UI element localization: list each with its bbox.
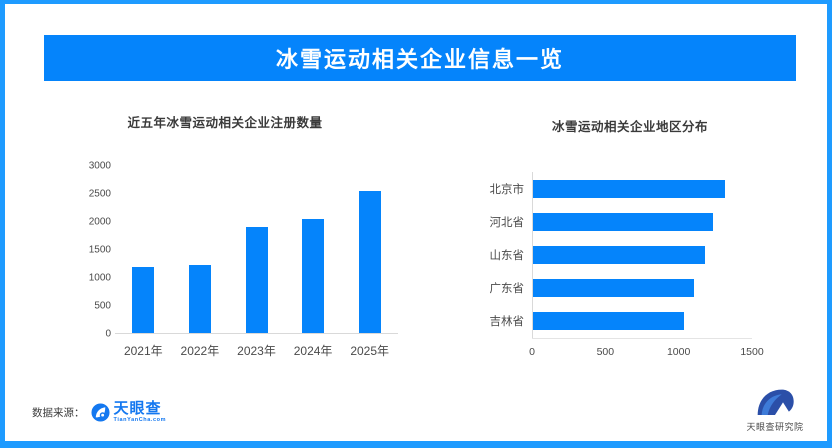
- x-axis-category-label: 2024年: [281, 342, 345, 359]
- data-source: 数据来源： 天眼查 TianYanCha.com: [32, 401, 166, 424]
- y-axis-category-label: 广东省: [462, 280, 524, 296]
- x-axis-category-label: 2022年: [168, 342, 232, 359]
- y-axis-tick-label: 2500: [65, 189, 111, 200]
- chart-title-registrations: 近五年冰雪运动相关企业注册数量: [60, 112, 390, 131]
- x-axis-tick-label: 1000: [654, 346, 704, 358]
- x-axis-tick-label: 0: [507, 346, 557, 358]
- tianyancha-institute-icon: [755, 388, 795, 418]
- data-source-label: 数据来源：: [32, 405, 85, 420]
- bar-registrations: [189, 265, 211, 333]
- y-axis-tick-label: 0: [65, 329, 111, 340]
- bar-region: [533, 180, 725, 198]
- page-title: 冰雪运动相关企业信息一览: [276, 42, 564, 74]
- x-axis-category-label: 2025年: [338, 342, 402, 359]
- bar-registrations: [246, 227, 268, 333]
- bar-registrations: [359, 191, 381, 333]
- x-axis-category-label: 2021年: [111, 342, 175, 359]
- chart-plot-registrations: 300025002000150010005000 2021年2022年2023年…: [115, 166, 398, 334]
- tianyancha-logo: 天眼查 TianYanCha.com: [91, 401, 167, 424]
- chart-panel-registrations: 近五年冰雪运动相关企业注册数量 300025002000150010005000…: [60, 104, 420, 366]
- tianyancha-eye-icon: [91, 403, 110, 422]
- tianyancha-name: 天眼查: [114, 401, 167, 416]
- chart-title-regions: 冰雪运动相关企业地区分布: [480, 116, 780, 135]
- y-axis-tick-label: 3000: [65, 161, 111, 172]
- y-axis-category-label: 北京市: [462, 181, 524, 197]
- y-axis-tick-label: 2000: [65, 217, 111, 228]
- chart-plot-regions: 北京市河北省山东省广东省吉林省 050010001500: [532, 172, 752, 338]
- title-banner: 冰雪运动相关企业信息一览: [44, 35, 796, 81]
- research-institute-logo: 天眼查研究院: [727, 388, 823, 433]
- y-axis-tick-label: 500: [65, 301, 111, 312]
- research-institute-name: 天眼查研究院: [746, 420, 803, 433]
- bar-region: [533, 213, 713, 231]
- y-axis-category-label: 山东省: [462, 247, 524, 263]
- x-axis-line: [115, 333, 398, 334]
- bar-region: [533, 246, 705, 264]
- chart-panel-regions: 冰雪运动相关企业地区分布 北京市河北省山东省广东省吉林省 05001000150…: [460, 104, 810, 366]
- bar-region: [533, 312, 684, 330]
- tianyancha-wordmark: 天眼查 TianYanCha.com: [114, 401, 167, 424]
- x-axis-category-label: 2023年: [225, 342, 289, 359]
- y-axis-category-label: 河北省: [462, 214, 524, 230]
- y-axis-tick-label: 1500: [65, 245, 111, 256]
- bar-registrations: [132, 267, 154, 333]
- infographic-page: 冰雪运动相关企业信息一览 近五年冰雪运动相关企业注册数量 30002500200…: [0, 0, 832, 448]
- x-axis-line: [532, 338, 752, 339]
- x-axis-tick-label: 500: [580, 346, 630, 358]
- bar-region: [533, 279, 694, 297]
- tianyancha-domain: TianYanCha.com: [114, 418, 167, 424]
- y-axis-tick-label: 1000: [65, 273, 111, 284]
- y-axis-category-label: 吉林省: [462, 313, 524, 329]
- bar-registrations: [302, 219, 324, 333]
- x-axis-tick-label: 1500: [727, 346, 777, 358]
